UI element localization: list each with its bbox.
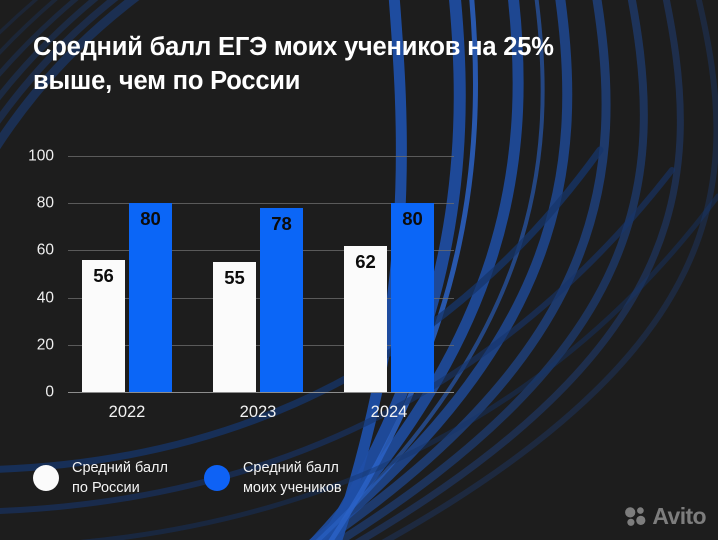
bar-students-2022[interactable]: 80 <box>129 203 172 392</box>
legend-item-students: Средний балл моих учеников <box>204 458 342 498</box>
bar-russia-2023[interactable]: 55 <box>213 262 256 392</box>
bar-russia-2024[interactable]: 62 <box>344 246 387 392</box>
bar-group-2022: 56 80 <box>82 156 172 392</box>
y-tick-label: 80 <box>37 195 54 211</box>
bar-value-label: 56 <box>82 267 125 286</box>
bar-value-label: 80 <box>391 210 434 229</box>
bar-value-label: 78 <box>260 215 303 234</box>
x-tick-label-2024: 2024 <box>344 404 434 421</box>
legend-swatch-white-dot-icon <box>33 465 59 491</box>
y-tick-label: 40 <box>37 290 54 306</box>
y-tick-label: 20 <box>37 337 54 353</box>
legend-label-russia: Средний балл по России <box>72 458 168 498</box>
bar-students-2024[interactable]: 80 <box>391 203 434 392</box>
legend-swatch-blue-dot-icon <box>204 465 230 491</box>
avito-logo-icon <box>624 504 648 528</box>
bar-value-label: 62 <box>344 253 387 272</box>
bar-group-2024: 62 80 <box>344 156 434 392</box>
infographic-poster: Средний балл ЕГЭ моих учеников на 25% вы… <box>0 0 718 540</box>
x-tick-label-2023: 2023 <box>213 404 303 421</box>
bar-value-label: 80 <box>129 210 172 229</box>
avito-wordmark: Avito <box>652 505 706 528</box>
x-axis-baseline <box>68 392 454 393</box>
x-tick-label-2022: 2022 <box>82 404 172 421</box>
bar-russia-2022[interactable]: 56 <box>82 260 125 392</box>
y-tick-label: 100 <box>28 148 54 164</box>
bar-groups: 56 80 55 78 62 80 <box>68 156 454 392</box>
bar-value-label: 55 <box>213 269 256 288</box>
y-tick-label: 60 <box>37 243 54 259</box>
bar-students-2023[interactable]: 78 <box>260 208 303 392</box>
y-axis-labels: 100 80 60 40 20 0 <box>0 156 54 392</box>
bar-group-2023: 55 78 <box>213 156 303 392</box>
avito-watermark: Avito <box>624 504 706 528</box>
chart-legend: Средний балл по России Средний балл моих… <box>33 458 342 498</box>
legend-label-students: Средний балл моих учеников <box>243 458 342 498</box>
legend-item-russia: Средний балл по России <box>33 458 168 498</box>
y-tick-label: 0 <box>45 384 54 400</box>
